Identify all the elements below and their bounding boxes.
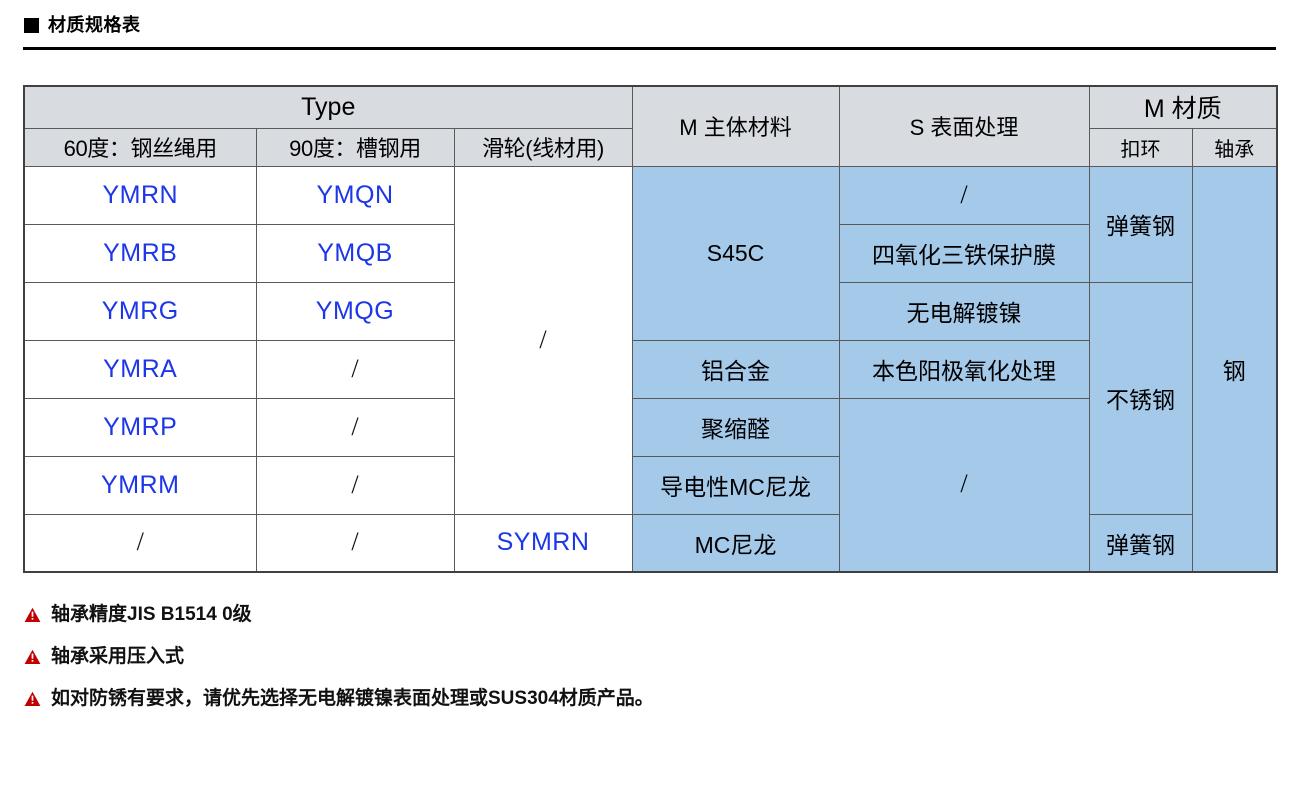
cell-90deg-none: / — [256, 456, 454, 514]
list-item: 轴承采用压入式 — [24, 645, 1124, 671]
cell-90deg-code: YMQG — [256, 282, 454, 340]
table-body: YMRN YMQN / S45C / 弹簧钢 钢 YMRB YMQB 四氧化三铁… — [24, 166, 1277, 572]
cell-body-material-pom: 聚缩醛 — [632, 398, 839, 456]
cell-90deg-none: / — [256, 340, 454, 398]
cell-surface-none-merged: / — [839, 398, 1089, 572]
cell-bearing-steel: 钢 — [1192, 166, 1277, 572]
slash-glyph: / — [351, 472, 358, 498]
slash-glyph: / — [351, 414, 358, 440]
cell-body-material-s45c: S45C — [632, 166, 839, 340]
cell-pulley-merged: / — [454, 166, 632, 514]
page-title: 材质规格表 — [24, 16, 141, 34]
cell-60deg-code: YMRG — [24, 282, 256, 340]
cell-clip-spring-steel: 弹簧钢 — [1089, 514, 1192, 572]
slash-glyph: / — [960, 182, 967, 208]
cell-surface-none: / — [839, 166, 1089, 224]
table-head: Type M 主体材料 S 表面处理 M 材质 60度：钢丝绳用 90度：槽钢用… — [24, 86, 1277, 166]
slash-glyph: / — [960, 471, 967, 497]
cell-body-material-aluminum: 铝合金 — [632, 340, 839, 398]
warning-triangle-icon — [24, 649, 41, 665]
cell-60deg-code: YMRA — [24, 340, 256, 398]
warning-triangle-icon — [24, 691, 41, 707]
title-divider — [23, 47, 1276, 50]
cell-60deg-code: YMRP — [24, 398, 256, 456]
slash-glyph: / — [351, 356, 358, 382]
cell-body-material-conductive-mc-nylon: 导电性MC尼龙 — [632, 456, 839, 514]
list-item: 轴承精度JIS B1514 0级 — [24, 603, 1124, 629]
footnote-text: 轴承精度JIS B1514 0级 — [51, 603, 252, 627]
table-row: / / SYMRN MC尼龙 弹簧钢 — [24, 514, 1277, 572]
header-col-pulley: 滑轮(线材用) — [454, 128, 632, 166]
cell-surface-electroless-nickel: 无电解镀镍 — [839, 282, 1089, 340]
cell-90deg-code: YMQN — [256, 166, 454, 224]
header-col-clip: 扣环 — [1089, 128, 1192, 166]
cell-surface-fe3o4: 四氧化三铁保护膜 — [839, 224, 1089, 282]
footnote-text: 如对防锈有要求，请优先选择无电解镀镍表面处理或SUS304材质产品。 — [51, 687, 654, 711]
table-header-row-1: Type M 主体材料 S 表面处理 M 材质 — [24, 86, 1277, 128]
cell-clip-stainless: 不锈钢 — [1089, 282, 1192, 514]
cell-60deg-code: YMRB — [24, 224, 256, 282]
cell-90deg-none: / — [256, 398, 454, 456]
table-row: YMRN YMQN / S45C / 弹簧钢 钢 — [24, 166, 1277, 224]
cell-60deg-code: YMRN — [24, 166, 256, 224]
spec-table-wrapper: Type M 主体材料 S 表面处理 M 材质 60度：钢丝绳用 90度：槽钢用… — [23, 85, 1276, 573]
warning-triangle-icon — [24, 607, 41, 623]
slash-glyph: / — [137, 529, 144, 555]
cell-60deg-none: / — [24, 514, 256, 572]
cell-body-material-mc-nylon: MC尼龙 — [632, 514, 839, 572]
footnote-list: 轴承精度JIS B1514 0级 轴承采用压入式 如对防锈有要求，请优先选择无电… — [24, 603, 1124, 729]
cell-60deg-code: YMRM — [24, 456, 256, 514]
header-col-60deg: 60度：钢丝绳用 — [24, 128, 256, 166]
filled-square-icon — [24, 18, 39, 33]
cell-surface-anodized: 本色阳极氧化处理 — [839, 340, 1089, 398]
cell-90deg-code: YMQB — [256, 224, 454, 282]
header-group-type: Type — [24, 86, 632, 128]
slash-glyph: / — [351, 529, 358, 555]
header-body-material: M 主体材料 — [632, 86, 839, 166]
slash-glyph: / — [539, 327, 546, 353]
header-col-90deg: 90度：槽钢用 — [256, 128, 454, 166]
footnote-text: 轴承采用压入式 — [51, 645, 184, 669]
page-title-text: 材质规格表 — [48, 16, 141, 34]
cell-pulley-code: SYMRN — [454, 514, 632, 572]
header-surface-treatment: S 表面处理 — [839, 86, 1089, 166]
cell-90deg-none: / — [256, 514, 454, 572]
cell-clip-spring-steel: 弹簧钢 — [1089, 166, 1192, 282]
material-spec-sheet: 材质规格表 Type M 主体材料 S 表面处理 M 材质 60度：钢丝绳用 9… — [0, 0, 1300, 796]
material-spec-table: Type M 主体材料 S 表面处理 M 材质 60度：钢丝绳用 90度：槽钢用… — [23, 85, 1278, 573]
header-col-bearing: 轴承 — [1192, 128, 1277, 166]
header-group-m-material: M 材质 — [1089, 86, 1277, 128]
list-item: 如对防锈有要求，请优先选择无电解镀镍表面处理或SUS304材质产品。 — [24, 687, 1124, 713]
